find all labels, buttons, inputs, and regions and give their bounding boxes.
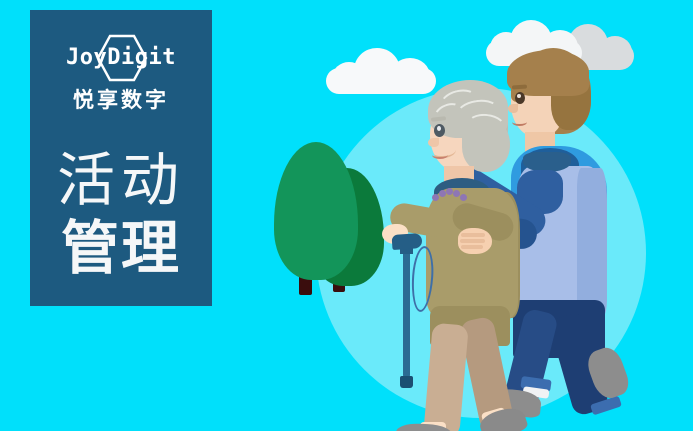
brand-logo: JoyDigit 悦享数字	[30, 36, 212, 114]
page-title-line-1: 活动	[30, 146, 212, 214]
brand-wordmark: JoyDigit	[30, 36, 212, 80]
brand-chinese-name: 悦享数字	[30, 84, 212, 114]
poster-canvas: JoyDigit 悦享数字 活动 管理	[0, 0, 693, 431]
panel-title: 活动 管理	[30, 146, 212, 282]
elderly-woman-figure	[404, 80, 544, 410]
title-panel: JoyDigit 悦享数字 活动 管理	[30, 10, 212, 306]
cane-shaft	[403, 242, 410, 378]
man-torso-shade	[577, 168, 607, 316]
woman-hand-back	[458, 228, 492, 254]
woman-mouth	[432, 151, 448, 159]
woman-eye-highlight	[437, 126, 441, 131]
walking-cane	[392, 228, 418, 390]
page-title-line-2: 管理	[30, 214, 212, 282]
cane-handle	[392, 233, 423, 250]
cane-tip	[400, 376, 413, 388]
